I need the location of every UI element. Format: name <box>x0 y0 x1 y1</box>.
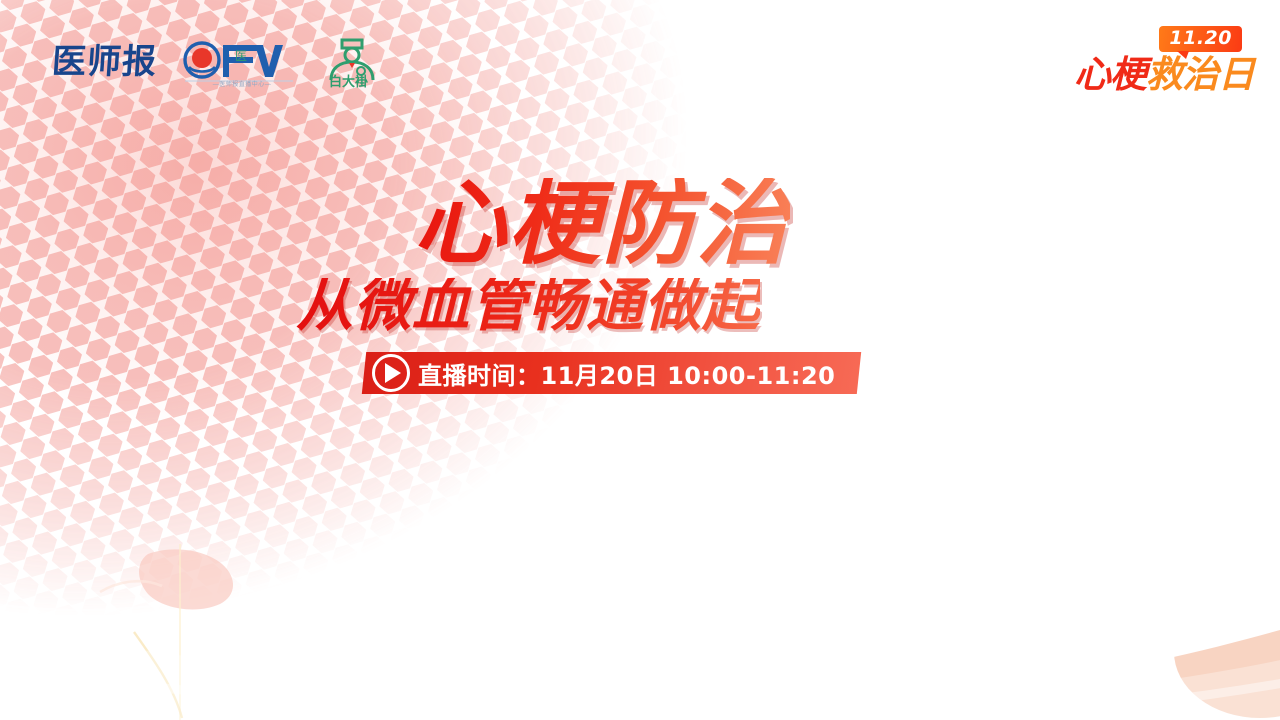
doctor-figure-icon: 白大褂 <box>321 36 383 88</box>
honeycomb-cell <box>797 269 828 297</box>
honeycomb-cell <box>764 101 795 129</box>
logo-yishibao[interactable]: 医师报 <box>51 45 158 79</box>
three-doctors-silhouette-icon <box>872 496 1032 626</box>
honeycomb-cell <box>775 137 806 165</box>
page-subtitle: 从微血管畅通做起 <box>296 278 760 335</box>
honeycomb-cell <box>754 64 785 92</box>
honeycomb-cell <box>796 210 827 238</box>
honeycomb-cell <box>785 174 816 202</box>
page-title: 心梗防治 <box>414 178 790 270</box>
wave-ribbons-icon <box>0 380 1280 720</box>
honeycomb-cell <box>806 247 837 275</box>
baidagua-label: 白大褂 <box>329 74 368 88</box>
ecg-heartbeat-line-icon <box>838 226 1028 386</box>
day-logo-title-part1: 心梗 <box>1074 53 1146 96</box>
date-badge: 11.20 <box>1159 26 1242 52</box>
honeycomb-cell <box>724 13 755 41</box>
svg-text:医: 医 <box>235 49 247 63</box>
play-triangle <box>385 363 401 383</box>
day-logo-title: 心梗救治日 <box>1074 56 1254 93</box>
honeycomb-cell <box>808 306 839 334</box>
honeycomb-cell <box>787 233 818 261</box>
logo-baidagua[interactable]: 白大褂 <box>321 36 383 88</box>
day-logo-title-part2: 救治日 <box>1146 53 1254 96</box>
mi-rescue-day-logo[interactable]: 11.20 心梗救治日 <box>1054 26 1254 100</box>
poster-canvas: 医师报 医 —医师报直播中心— 白大褂 <box>0 0 1280 720</box>
etv-sub-label: —医师报直播中心— <box>189 79 295 88</box>
honeycomb-cell <box>755 123 786 151</box>
brand-logo-bar: 医师报 医 —医师报直播中心— 白大褂 <box>52 36 383 88</box>
honeycomb-cell <box>745 86 776 114</box>
play-icon[interactable] <box>372 354 410 392</box>
honeycomb-cell <box>743 28 774 56</box>
live-time-banner[interactable]: 直播时间：11月20日 10:00-11:20 <box>362 352 862 394</box>
honeycomb-cell <box>733 0 764 19</box>
logo-etv[interactable]: 医 —医师报直播中心— <box>183 37 295 87</box>
live-time-text: 直播时间：11月20日 10:00-11:20 <box>418 356 835 391</box>
honeycomb-cell <box>734 50 765 78</box>
